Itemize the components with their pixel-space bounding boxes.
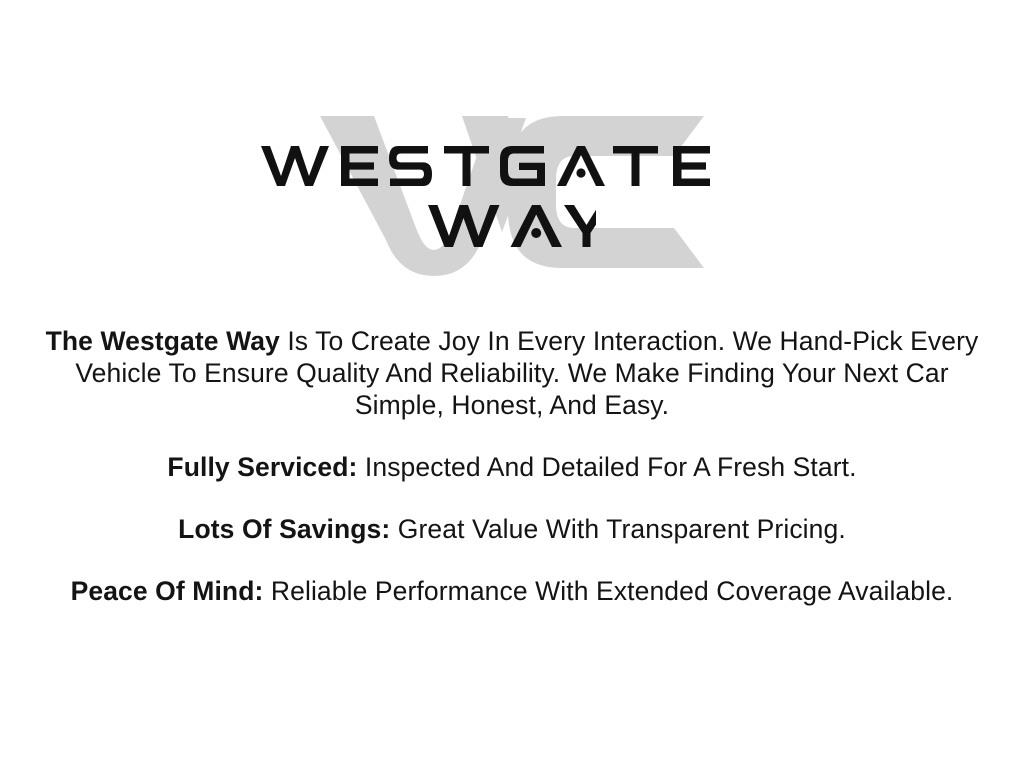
paragraph-lots-of-savings-lead: Lots Of Savings: [178, 514, 390, 544]
paragraph-intro: The Westgate Way Is To Create Joy In Eve… [0, 325, 1024, 421]
paragraph-fully-serviced-lead: Fully Serviced: [167, 452, 357, 482]
page-root: The Westgate Way Is To Create Joy In Eve… [0, 0, 1024, 768]
logo-line-way [0, 203, 1024, 248]
paragraph-peace-of-mind-rest: Reliable Performance With Extended Cover… [263, 576, 953, 606]
body-copy: The Westgate Way Is To Create Joy In Eve… [0, 325, 1024, 607]
paragraph-intro-lead: The Westgate Way [46, 326, 280, 356]
paragraph-fully-serviced: Fully Serviced: Inspected And Detailed F… [0, 451, 1024, 483]
paragraph-lots-of-savings-rest: Great Value With Transparent Pricing. [390, 514, 845, 544]
paragraph-fully-serviced-rest: Inspected And Detailed For A Fresh Start… [357, 452, 856, 482]
paragraph-peace-of-mind: Peace Of Mind: Reliable Performance With… [0, 575, 1024, 607]
paragraph-lots-of-savings: Lots Of Savings: Great Value With Transp… [0, 513, 1024, 545]
paragraph-peace-of-mind-lead: Peace Of Mind: [71, 576, 264, 606]
logo-block [0, 100, 1024, 285]
logo-wordmark [0, 100, 1024, 280]
logo-line-westgate [0, 144, 1024, 188]
